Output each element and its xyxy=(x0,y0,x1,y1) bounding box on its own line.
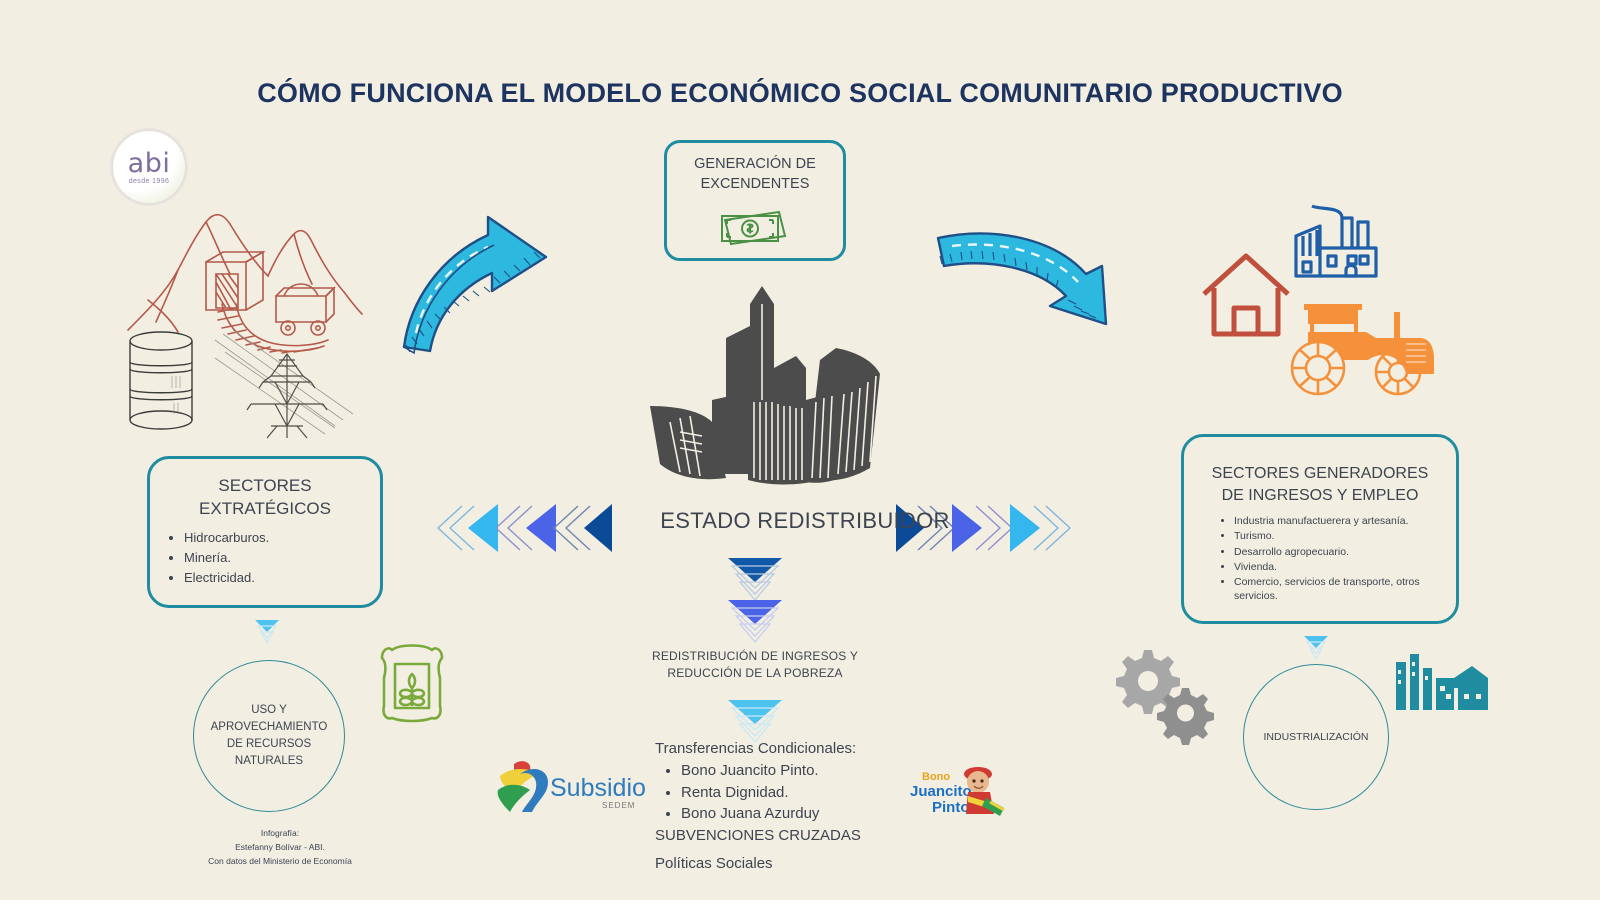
down-arrow-small-left xyxy=(253,618,281,646)
curved-arrow-down-icon xyxy=(934,222,1120,330)
redistribucion-line1: REDISTRIBUCIÓN DE INGRESOS Y xyxy=(575,648,935,665)
credits-block: Infografía: Estefanny Bolívar - ABI. Con… xyxy=(160,826,400,868)
tractor-icon xyxy=(1270,290,1438,398)
sectores-generadores-box: SECTORES GENERADORES DE INGRESOS Y EMPLE… xyxy=(1181,434,1459,624)
redistribucion-line2: REDUCCIÓN DE LA POBREZA xyxy=(575,665,935,682)
page-title: CÓMO FUNCIONA EL MODELO ECONÓMICO SOCIAL… xyxy=(0,78,1600,109)
generacion-excedentes-box: GENERACIÓN DE EXCENDENTES xyxy=(664,140,846,261)
oil-barrel-icon xyxy=(124,328,199,433)
politicas-sociales: Políticas Sociales xyxy=(655,853,955,875)
uso-recursos-circle: USO Y APROVECHAMIENTO DE RECURSOS NATURA… xyxy=(193,660,345,812)
city-skyline-icon xyxy=(640,282,884,488)
right-box-title-line2: DE INGRESOS Y EMPLEO xyxy=(1184,485,1456,507)
uso-line1: USO Y xyxy=(211,702,328,719)
generacion-line1: GENERACIÓN DE xyxy=(694,155,816,175)
redistribucion-text: REDISTRIBUCIÓN DE INGRESOS Y REDUCCIÓN D… xyxy=(575,648,935,683)
abi-logo: abi desde 1996 xyxy=(112,130,186,204)
list-item: Vivienda. xyxy=(1234,560,1456,574)
down-arrow-blue xyxy=(724,598,786,644)
industrial-plant-icon xyxy=(1392,648,1492,716)
credits-line2: Estefanny Bolívar - ABI. xyxy=(160,840,400,854)
left-box-list: Hidrocarburos. Minería. Electricidad. xyxy=(150,529,380,588)
down-arrow-small-right xyxy=(1302,634,1330,662)
sectores-estrategicos-box: SECTORES EXTRATÉGICOS Hidrocarburos. Min… xyxy=(147,456,383,608)
credits-line1: Infografía: xyxy=(160,826,400,840)
uso-line4: NATURALES xyxy=(211,753,328,770)
power-tower-icon xyxy=(215,330,355,440)
curved-arrow-right-icon xyxy=(396,205,556,353)
factory-icon xyxy=(1290,200,1382,284)
uso-line2: APROVECHAMIENTO xyxy=(211,719,328,736)
down-arrow-navy xyxy=(724,556,786,602)
estado-redistribuidor-label: ESTADO REDISTRIBUIDOR xyxy=(560,508,1050,534)
svg-text:SEDEM: SEDEM xyxy=(602,801,635,810)
left-box-title-line2: EXTRATÉGICOS xyxy=(150,498,380,521)
transferencias-heading: Transferencias Condicionales: xyxy=(655,738,955,760)
bono-juancito-pinto-logo: Bono Juancito Pinto xyxy=(908,758,1008,820)
gears-icon xyxy=(1108,648,1220,738)
svg-text:Pinto: Pinto xyxy=(932,799,970,816)
seed-sack-icon xyxy=(374,640,450,724)
svg-text:Bono: Bono xyxy=(922,771,950,783)
subsidio-logo: Subsidio SEDEM xyxy=(490,756,630,814)
abi-logo-word: abi xyxy=(128,150,171,177)
list-item: Turismo. xyxy=(1234,529,1456,543)
list-item: Industria manufactuerera y artesanía. xyxy=(1234,514,1456,528)
generacion-line2: EXCENDENTES xyxy=(701,175,810,195)
industrializacion-circle: INDUSTRIALIZACIÓN xyxy=(1243,664,1389,810)
uso-line3: DE RECURSOS xyxy=(211,736,328,753)
list-item: Comercio, servicios de transporte, otros… xyxy=(1234,575,1456,603)
list-item: Hidrocarburos. xyxy=(184,529,380,548)
list-item: Desarrollo agropecuario. xyxy=(1234,545,1456,559)
infographic-canvas: CÓMO FUNCIONA EL MODELO ECONÓMICO SOCIAL… xyxy=(0,0,1600,900)
list-item: Electricidad. xyxy=(184,569,380,588)
subvenciones-cruzadas: SUBVENCIONES CRUZADAS xyxy=(655,825,955,847)
left-box-title-line1: SECTORES xyxy=(150,475,380,498)
money-bills-icon xyxy=(719,204,791,246)
svg-text:Juancito: Juancito xyxy=(910,783,972,800)
credits-line3: Con datos del Ministerio de Economía xyxy=(160,854,400,868)
industrializacion-label: INDUSTRIALIZACIÓN xyxy=(1263,731,1368,743)
abi-logo-since: desde 1996 xyxy=(129,178,170,185)
svg-text:Subsidio: Subsidio xyxy=(550,774,646,802)
right-box-title-line1: SECTORES GENERADORES xyxy=(1184,463,1456,485)
list-item: Minería. xyxy=(184,549,380,568)
right-box-list: Industria manufactuerera y artesanía. Tu… xyxy=(1184,514,1456,603)
